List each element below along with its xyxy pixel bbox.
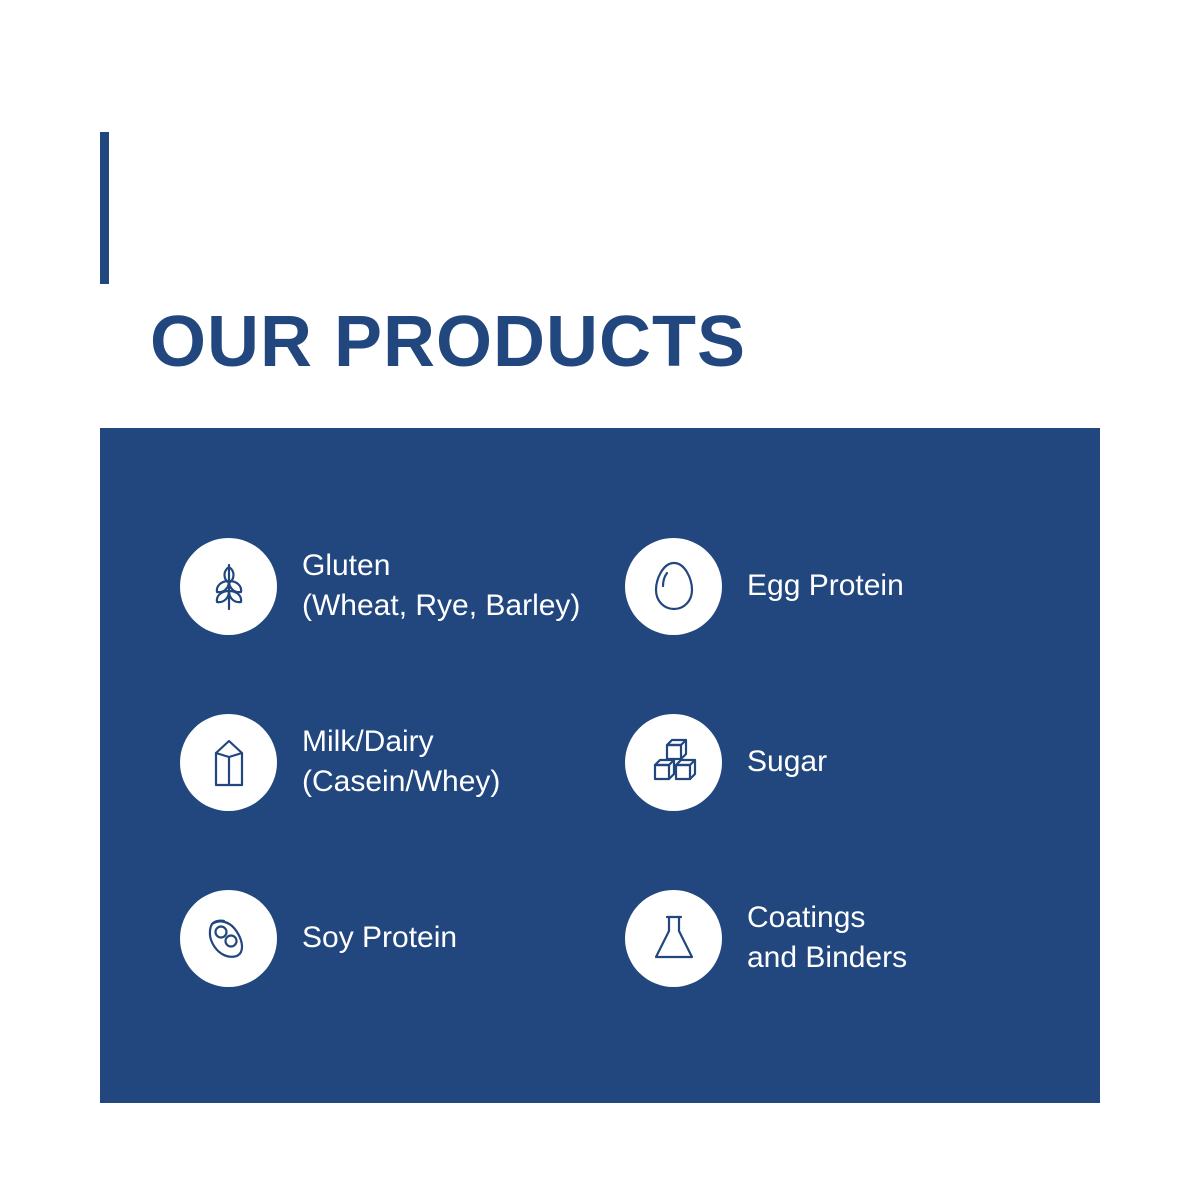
list-item-label: Egg Protein bbox=[747, 566, 904, 606]
free-of-panel: Gluten (Wheat, Rye, Barley) Egg Protein bbox=[100, 428, 1100, 1103]
free-of-list: Gluten (Wheat, Rye, Barley) Egg Protein bbox=[180, 528, 1040, 996]
infographic-page: OUR PRODUCTS ARE FREE OF... Glute bbox=[0, 0, 1200, 1200]
list-item: Coatings and Binders bbox=[625, 880, 1040, 996]
list-item-label: Soy Protein bbox=[302, 918, 457, 958]
title-line-1: OUR PRODUCTS bbox=[150, 300, 746, 384]
list-item: Milk/Dairy (Casein/Whey) bbox=[180, 704, 595, 820]
list-item: Gluten (Wheat, Rye, Barley) bbox=[180, 528, 595, 644]
sugar-cubes-icon bbox=[625, 714, 722, 811]
list-item: Soy Protein bbox=[180, 880, 595, 996]
wheat-icon bbox=[180, 538, 277, 635]
milk-carton-icon bbox=[180, 714, 277, 811]
title-accent-rule bbox=[100, 132, 109, 284]
list-item-label: Sugar bbox=[747, 742, 827, 782]
list-item-label: Milk/Dairy (Casein/Whey) bbox=[302, 722, 500, 802]
soybean-icon bbox=[180, 890, 277, 987]
list-item-label: Gluten (Wheat, Rye, Barley) bbox=[302, 546, 580, 626]
egg-icon bbox=[625, 538, 722, 635]
list-item-label: Coatings and Binders bbox=[747, 898, 907, 978]
list-item: Sugar bbox=[625, 704, 1040, 820]
list-item: Egg Protein bbox=[625, 528, 1040, 644]
flask-icon bbox=[625, 890, 722, 987]
